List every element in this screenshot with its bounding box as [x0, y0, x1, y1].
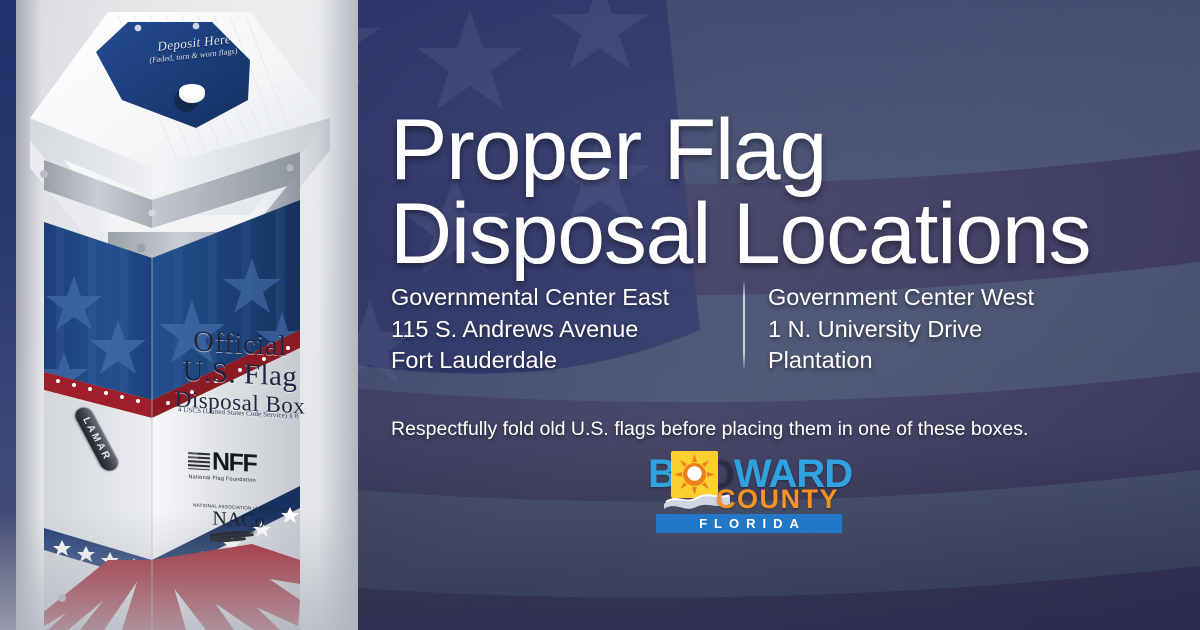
location-west-street: 1 N. University Drive	[768, 314, 1034, 346]
location-east-name: Governmental Center East	[391, 282, 743, 314]
location-east: Governmental Center East 115 S. Andrews …	[391, 282, 743, 377]
instruction-note: Respectfully fold old U.S. flags before …	[391, 418, 1181, 441]
locations-divider	[743, 282, 745, 368]
nff-logo-text: NFF	[212, 449, 256, 476]
location-west-name: Government Center West	[768, 282, 1034, 314]
broward-county-word: COUNTY	[716, 486, 839, 513]
content-panel: Proper Flag Disposal Locations Governmen…	[358, 0, 1200, 630]
page-title: Proper Flag Disposal Locations	[390, 108, 1190, 277]
flag-disposal-box-photo: Deposit Here (Faded, torn & worn flags) …	[0, 0, 358, 630]
florida-bar-text: FLORIDA	[692, 516, 806, 531]
location-west-city: Plantation	[768, 345, 1034, 377]
location-east-city: Fort Lauderdale	[391, 345, 743, 377]
location-west: Government Center West 1 N. University D…	[768, 282, 1034, 377]
nff-sponsor-logo: NFF National Flag Foundation	[188, 448, 256, 484]
locations-list: Governmental Center East 115 S. Andrews …	[391, 282, 1111, 377]
nff-flag-icon	[188, 452, 210, 470]
flag-disposal-banner: Deposit Here (Faded, torn & worn flags) …	[0, 0, 1200, 630]
florida-bar: FLORIDA	[656, 514, 842, 533]
location-east-street: 115 S. Andrews Avenue	[391, 314, 743, 346]
photo-floor-shadow	[0, 510, 358, 630]
title-line-1: Proper Flag	[390, 102, 826, 198]
title-line-2: Disposal Locations	[390, 192, 1190, 276]
broward-county-logo: BROWARD	[648, 452, 858, 536]
